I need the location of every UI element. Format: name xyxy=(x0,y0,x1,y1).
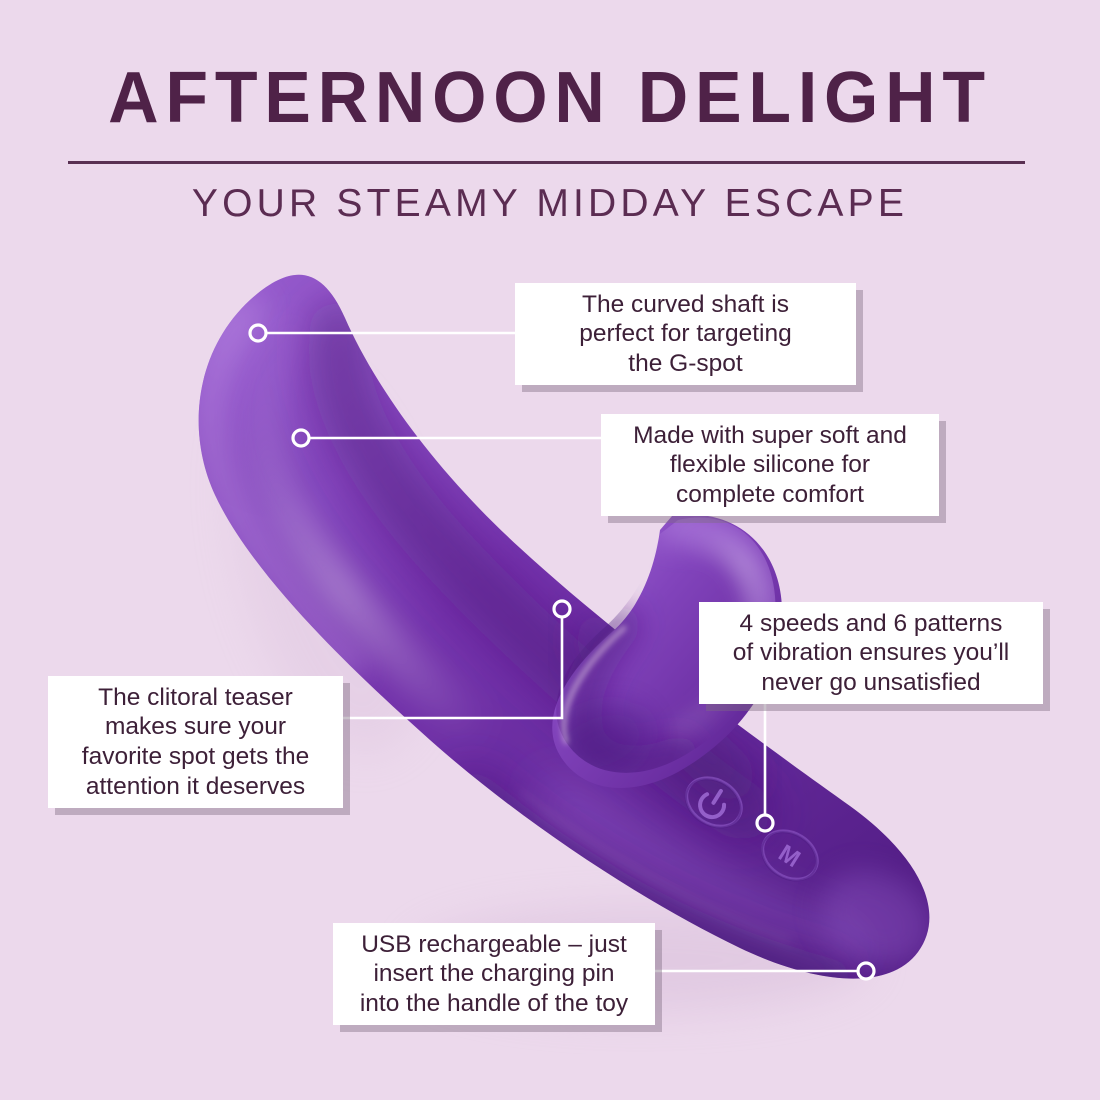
page-title: AFTERNOON DELIGHT xyxy=(82,62,1017,134)
power-icon xyxy=(696,785,732,822)
callout-line: makes sure your xyxy=(58,712,333,742)
callout-line: USB rechargeable – just xyxy=(345,930,643,960)
callout-usb-rechargeable: USB rechargeable – just insert the charg… xyxy=(333,923,655,1025)
callout-line: The curved shaft is xyxy=(529,290,842,320)
callout-line: insert the charging pin xyxy=(345,959,643,989)
callout-line: The clitoral teaser xyxy=(58,683,333,713)
callout-line: flexible silicone for xyxy=(613,450,927,480)
callout-line: never go unsatisfied xyxy=(713,668,1029,698)
callout-curved-shaft: The curved shaft is perfect for targetin… xyxy=(515,283,856,385)
leader-marker-clitoral xyxy=(554,601,570,617)
callout-line: 4 speeds and 6 patterns xyxy=(713,609,1029,639)
callout-line: attention it deserves xyxy=(58,772,333,802)
callout-line: Made with super soft and xyxy=(613,421,927,451)
infographic-canvas: M xyxy=(0,0,1100,1100)
mode-icon: M xyxy=(774,840,805,873)
title-divider xyxy=(68,161,1025,164)
handle-controls: M xyxy=(676,767,826,891)
callout-line: of vibration ensures you’ll xyxy=(713,638,1029,668)
callout-curved-shaft-text: The curved shaft is perfect for targetin… xyxy=(529,290,842,379)
callout-line: favorite spot gets the xyxy=(58,742,333,772)
leader-clitoral xyxy=(343,617,562,718)
arm-shaft-gap xyxy=(564,628,624,742)
leader-marker-silicone xyxy=(293,430,309,446)
leader-marker-curved-shaft xyxy=(250,325,266,341)
header: AFTERNOON DELIGHT YOUR STEAMY MIDDAY ESC… xyxy=(0,0,1100,240)
callout-clitoral-text: The clitoral teaser makes sure your favo… xyxy=(58,683,333,802)
callout-silicone: Made with super soft and flexible silico… xyxy=(601,414,939,516)
callout-line: perfect for targeting xyxy=(529,319,842,349)
mode-button[interactable]: M xyxy=(753,821,826,890)
callout-speeds-text: 4 speeds and 6 patterns of vibration ens… xyxy=(713,609,1029,698)
callout-speeds-patterns: 4 speeds and 6 patterns of vibration ens… xyxy=(699,602,1043,704)
power-button[interactable] xyxy=(676,767,752,838)
callout-line: the G-spot xyxy=(529,349,842,379)
callout-silicone-text: Made with super soft and flexible silico… xyxy=(613,421,927,510)
callout-line: complete comfort xyxy=(613,480,927,510)
callout-usb-text: USB rechargeable – just insert the charg… xyxy=(345,930,643,1019)
callout-line: into the handle of the toy xyxy=(345,989,643,1019)
page-subtitle: YOUR STEAMY MIDDAY ESCAPE xyxy=(68,181,1032,228)
leader-marker-usb xyxy=(858,963,874,979)
callout-clitoral-teaser: The clitoral teaser makes sure your favo… xyxy=(48,676,343,808)
leader-marker-speeds xyxy=(757,815,773,831)
